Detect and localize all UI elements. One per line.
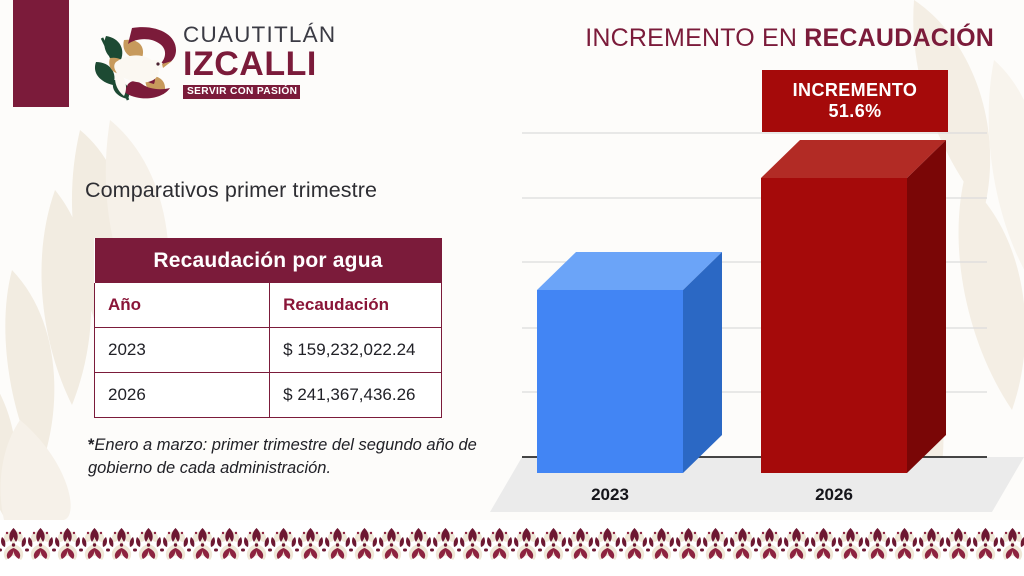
- table-cell-amount: $ 159,232,022.24: [270, 327, 442, 372]
- table-cell-amount: $ 241,367,436.26: [270, 372, 442, 417]
- bar-2026-side: [907, 140, 946, 473]
- table-header-row: Año Recaudación: [95, 283, 442, 327]
- table-row: 2023 $ 159,232,022.24: [95, 327, 442, 372]
- table-cell-year: 2023: [95, 327, 270, 372]
- bar-2023-front: [537, 290, 683, 473]
- badge-label: INCREMENTO: [793, 80, 918, 101]
- brand-accent-block: [13, 0, 69, 107]
- logo-emblem-icon: [88, 18, 180, 104]
- logo: CUAUTITLÁN IZCALLI SERVIR CON PASIÓN: [88, 18, 298, 104]
- logo-line-2: IZCALLI: [183, 47, 301, 82]
- decorative-border: [0, 520, 1024, 576]
- status-badge: INCREMENTO 51.6%: [762, 70, 948, 132]
- table-header-year: Año: [95, 283, 270, 327]
- footnote-text: Enero a marzo: primer trimestre del segu…: [88, 436, 477, 477]
- table-title: Recaudación por agua: [95, 238, 442, 283]
- bar-2026-front: [761, 178, 907, 473]
- logo-wordmark: CUAUTITLÁN IZCALLI SERVIR CON PASIÓN: [183, 24, 301, 99]
- slide-canvas: CUAUTITLÁN IZCALLI SERVIR CON PASIÓN INC…: [0, 0, 1024, 576]
- recaudacion-table: Recaudación por agua Año Recaudación 202…: [94, 238, 442, 418]
- bar-2026: [761, 140, 946, 473]
- page-title-light: INCREMENTO EN: [585, 24, 804, 52]
- bar-label-2023: 2023: [591, 485, 629, 504]
- bar-2023: [537, 252, 722, 473]
- table-row: 2026 $ 241,367,436.26: [95, 372, 442, 417]
- page-title-bold: RECAUDACIÓN: [804, 24, 994, 52]
- logo-tagline: SERVIR CON PASIÓN: [183, 85, 300, 100]
- footnote: *Enero a marzo: primer trimestre del seg…: [88, 434, 508, 480]
- table-cell-year: 2026: [95, 372, 270, 417]
- logo-line-1: CUAUTITLÁN: [183, 24, 301, 47]
- table-header-amount: Recaudación: [270, 283, 442, 327]
- bar-label-2026: 2026: [815, 485, 853, 504]
- bar-2023-side: [683, 252, 722, 473]
- table-title-row: Recaudación por agua: [95, 238, 442, 283]
- bar-chart: 2023 2026: [490, 100, 1024, 520]
- badge-value: 51.6%: [828, 101, 881, 122]
- page-title: INCREMENTO EN RECAUDACIÓN: [585, 24, 994, 53]
- section-subtitle: Comparativos primer trimestre: [85, 178, 377, 203]
